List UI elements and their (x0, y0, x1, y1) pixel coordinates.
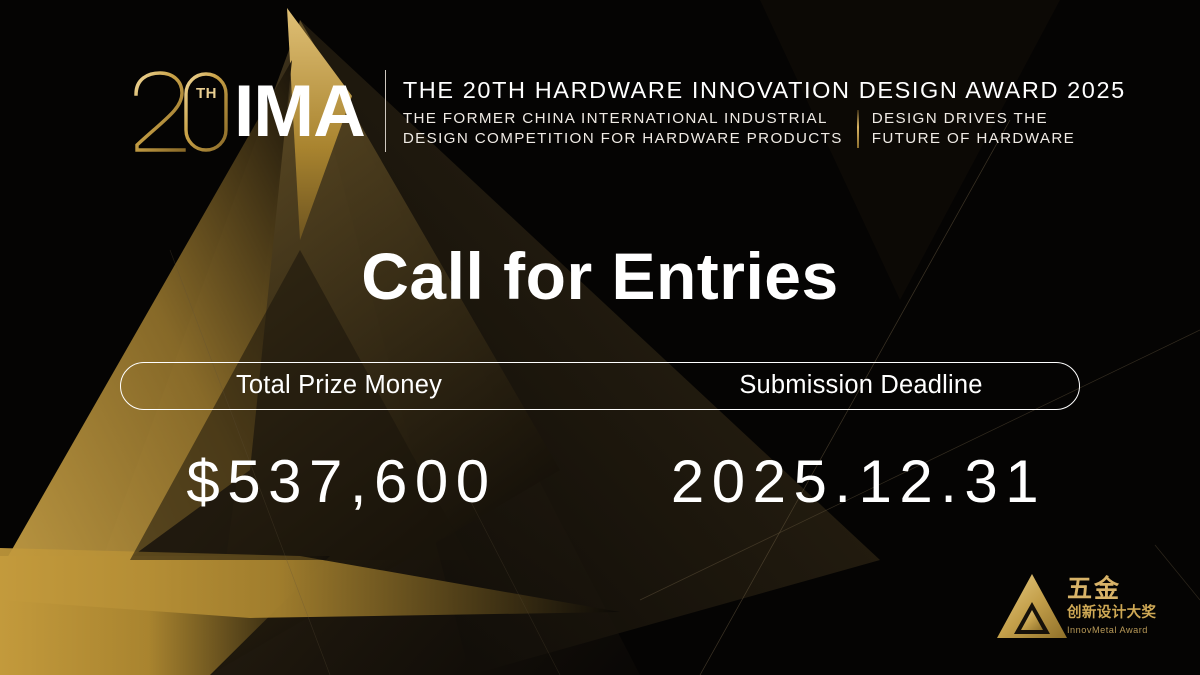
award-badge: 五金 创新设计大奖 InnovMetal Award (995, 572, 1175, 648)
award-name-en: InnovMetal Award (1067, 626, 1175, 635)
deadline-value: 2025.12.31 (611, 452, 1080, 512)
header-subtitle-divider (857, 110, 859, 148)
header-subtitle-right-line1: DESIGN DRIVES THE (872, 109, 1075, 129)
header: TH IMA THE 20TH HARDWARE INNOVATION DESI… (128, 64, 1126, 160)
poster-canvas: TH IMA THE 20TH HARDWARE INNOVATION DESI… (0, 0, 1200, 675)
header-subtitle-left-line1: THE FORMER CHINA INTERNATIONAL INDUSTRIA… (403, 109, 843, 129)
header-subtitle-row: THE FORMER CHINA INTERNATIONAL INDUSTRIA… (403, 109, 1126, 149)
header-subtitle-right: DESIGN DRIVES THE FUTURE OF HARDWARE (872, 109, 1075, 149)
logo-ima-text: IMA (234, 68, 365, 156)
svg-text:TH: TH (196, 85, 217, 102)
award-badge-text: 五金 创新设计大奖 InnovMetal Award (1067, 576, 1175, 635)
award-tagline-cn: 创新设计大奖 (1067, 606, 1175, 621)
logo-20th-mark: TH (128, 68, 236, 156)
stats-label-pill: Total Prize Money Submission Deadline (120, 362, 1080, 410)
mountain-triangle-icon (995, 572, 1069, 640)
header-subtitle-left: THE FORMER CHINA INTERNATIONAL INDUSTRIA… (403, 109, 843, 149)
header-subtitle-right-line2: FUTURE OF HARDWARE (872, 129, 1075, 149)
prize-value: $537,600 (120, 452, 611, 512)
prize-label: Total Prize Money (121, 373, 613, 399)
ima-logo: TH IMA (128, 64, 365, 160)
award-name-cn: 五金 (1067, 576, 1175, 601)
header-vertical-rule (385, 70, 386, 152)
page-title: Call for Entries (0, 243, 1200, 309)
header-subtitle-left-line2: DESIGN COMPETITION FOR HARDWARE PRODUCTS (403, 129, 843, 149)
header-title: THE 20TH HARDWARE INNOVATION DESIGN AWAR… (403, 77, 1126, 103)
deadline-label: Submission Deadline (613, 373, 1079, 399)
header-text-block: THE 20TH HARDWARE INNOVATION DESIGN AWAR… (403, 64, 1126, 160)
stats-values-row: $537,600 2025.12.31 (120, 446, 1080, 518)
